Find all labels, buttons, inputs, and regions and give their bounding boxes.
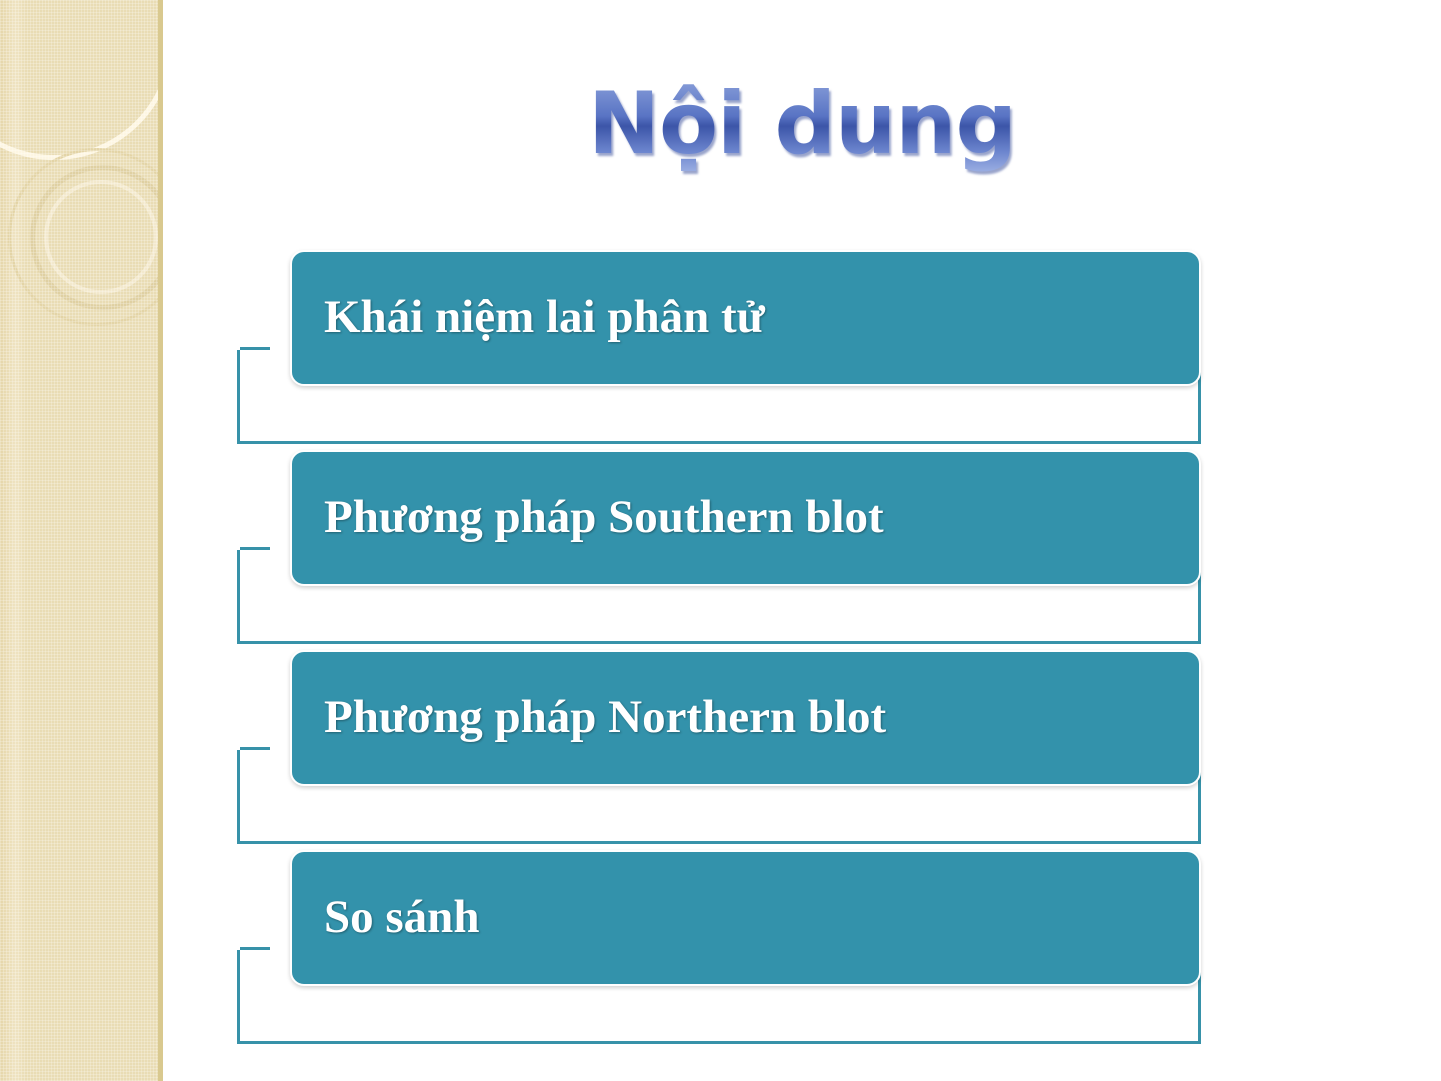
circle-decoration-outer-icon [8,148,163,326]
decorative-left-band [0,0,163,1081]
circle-decoration-inner-icon [44,180,158,294]
list-item-label: So sánh [292,893,479,942]
band-gradient-strip [0,0,26,1081]
list-item-bar[interactable]: Phương pháp Southern blot [290,450,1201,586]
slide-title: Nội dung [163,74,1441,174]
list-item[interactable]: So sánh [237,850,1207,1050]
content-list: Khái niệm lai phân tử Phương pháp Southe… [237,250,1207,1050]
list-item-bar[interactable]: Khái niệm lai phân tử [290,250,1201,386]
circle-decoration-icon [0,0,163,160]
list-item[interactable]: Phương pháp Northern blot [237,650,1207,850]
circle-decoration-mid-icon [30,165,163,310]
list-item-label: Phương pháp Northern blot [292,693,886,742]
list-item[interactable]: Phương pháp Southern blot [237,450,1207,650]
list-item-label: Phương pháp Southern blot [292,493,884,542]
list-item-label: Khái niệm lai phân tử [292,293,765,342]
list-item-bar[interactable]: Phương pháp Northern blot [290,650,1201,786]
slide: Nội dung Khái niệm lai phân tử Phương ph… [0,0,1441,1081]
list-item[interactable]: Khái niệm lai phân tử [237,250,1207,450]
list-item-bar[interactable]: So sánh [290,850,1201,986]
